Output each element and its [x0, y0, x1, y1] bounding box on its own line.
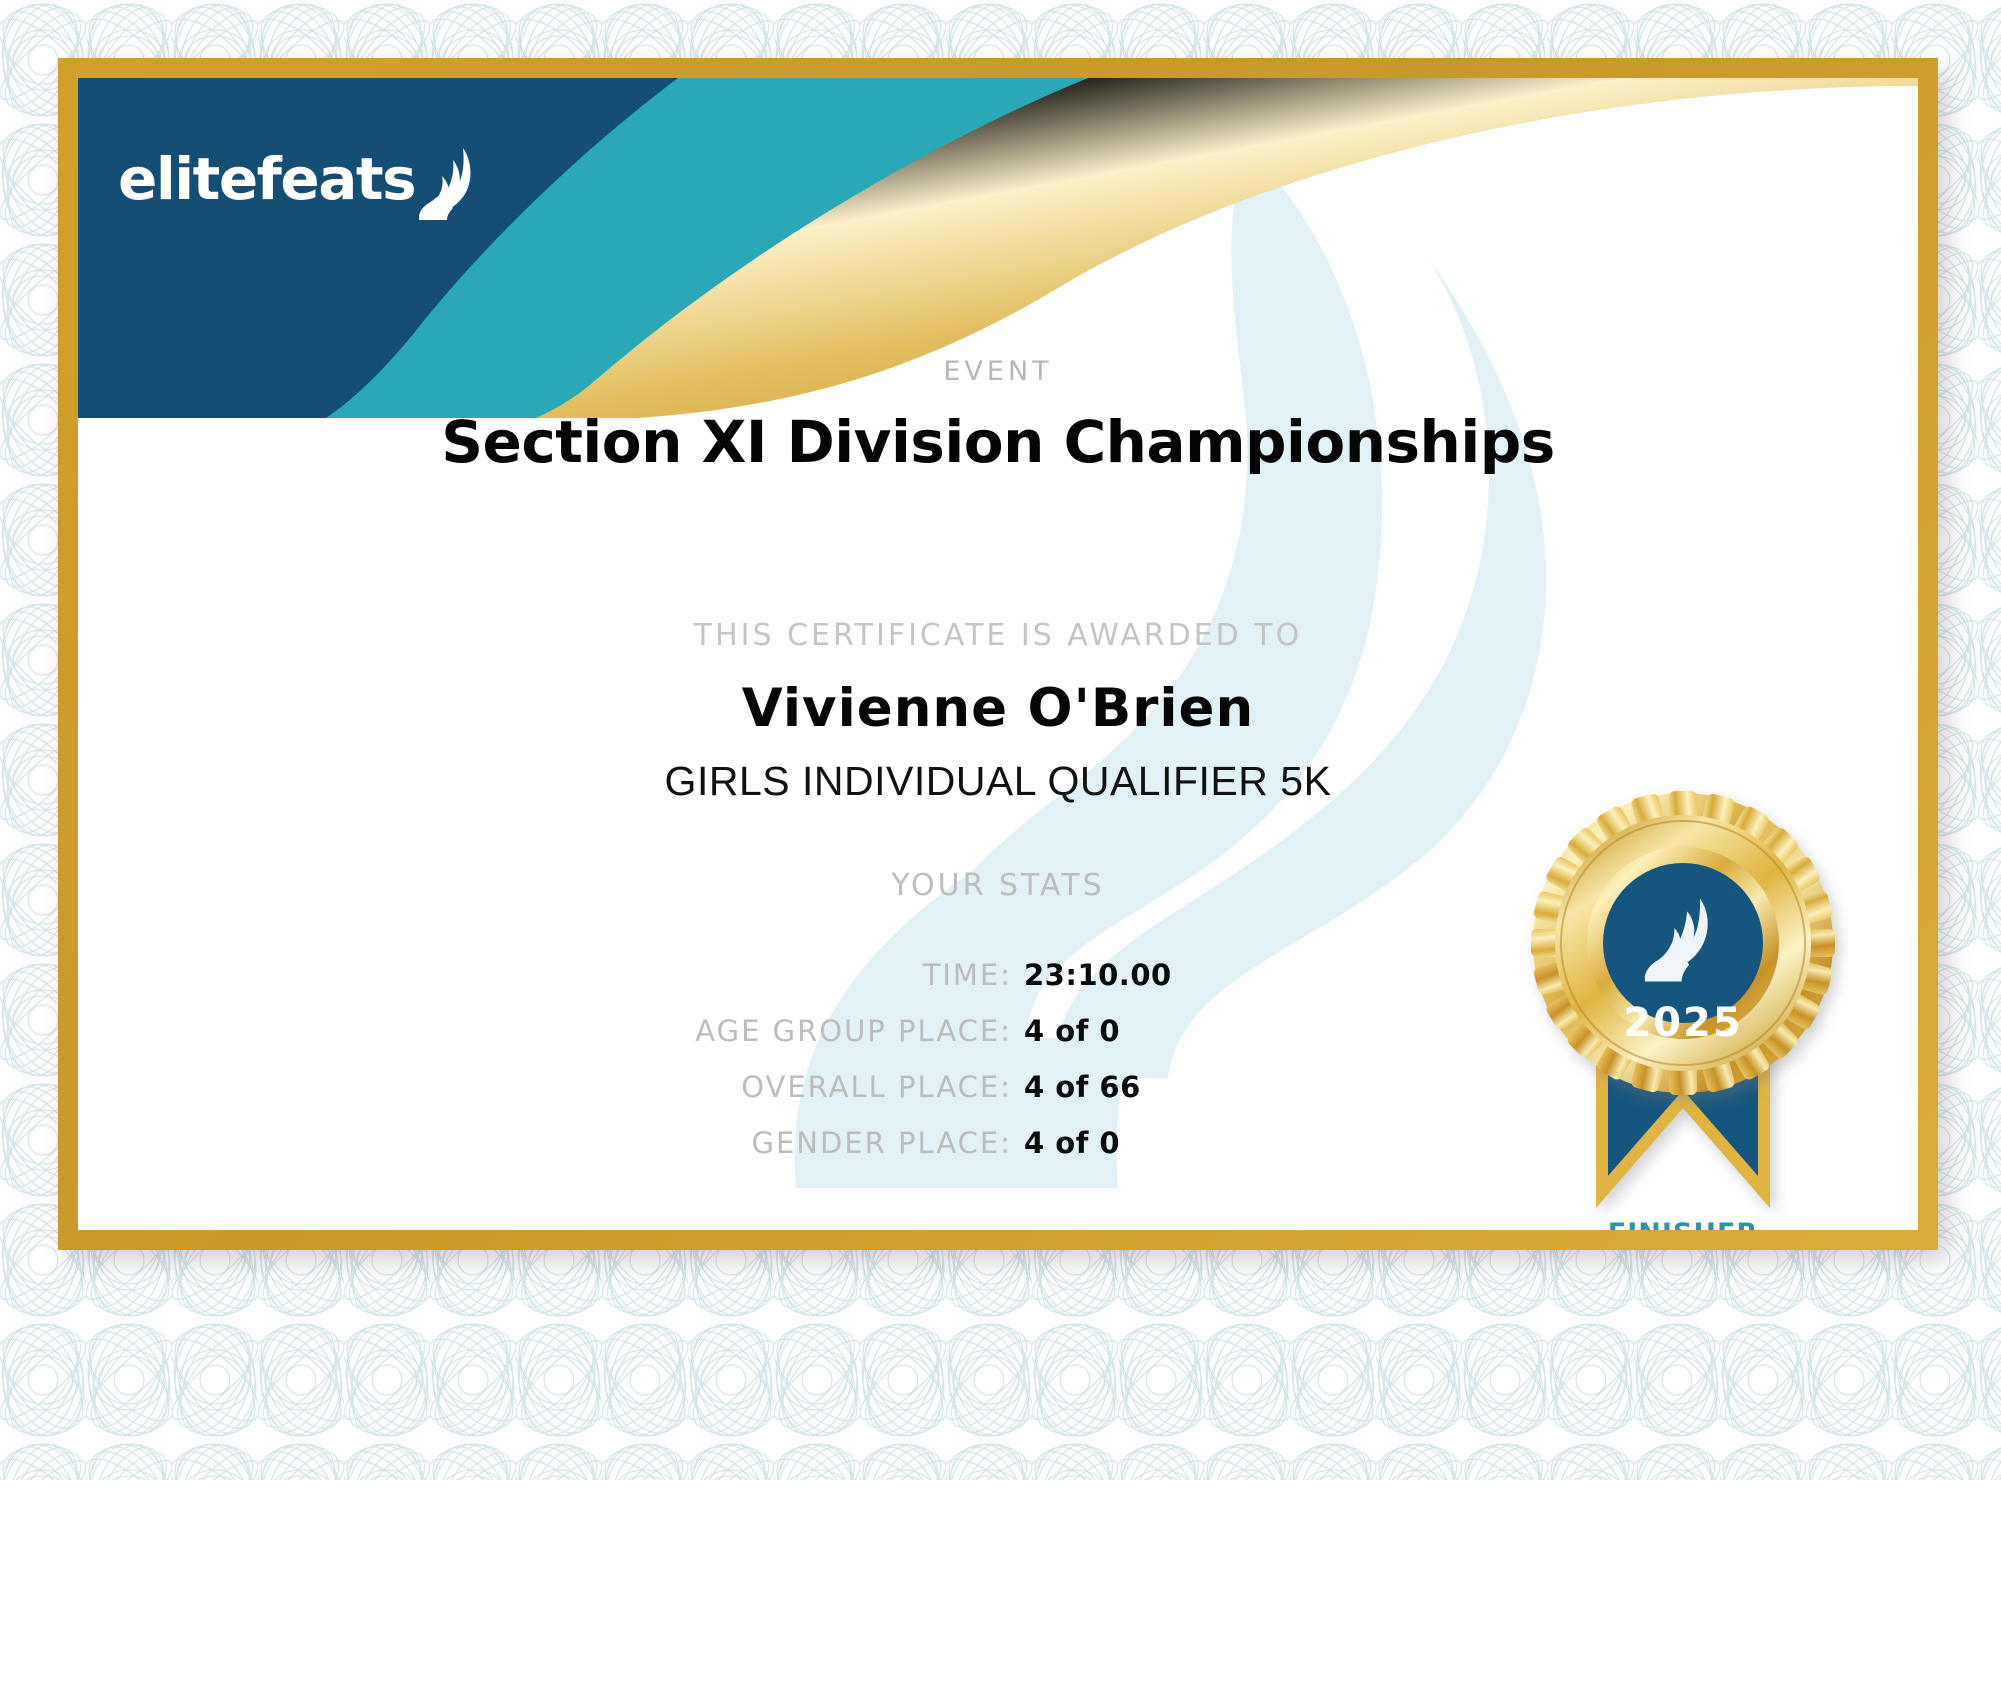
certificate-content: EVENT Section XI Division Championships …: [78, 78, 1918, 1230]
elitefeats-logo: elitefeats: [118, 146, 479, 208]
stat-label-gender-place: GENDER PLACE:: [542, 1126, 1012, 1160]
stat-row: TIME: 23:10.00: [378, 958, 1488, 992]
stat-value-overall-place: 4 of 66: [1024, 1070, 1324, 1104]
recipient-name: Vivienne O'Brien: [78, 678, 1918, 739]
stat-row: OVERALL PLACE: 4 of 66: [378, 1070, 1488, 1104]
stat-row: AGE GROUP PLACE: 4 of 0: [378, 1014, 1488, 1048]
seal-caption-line1: FINISHER: [1518, 1218, 1848, 1230]
seal-year: 2025: [1623, 1000, 1742, 1046]
logo-wordmark: elitefeats: [118, 150, 415, 208]
stat-value-time: 23:10.00: [1024, 958, 1324, 992]
stat-value-gender-place: 4 of 0: [1024, 1126, 1324, 1160]
winged-foot-icon: [417, 146, 479, 222]
certificate-page: elitefeats EVENT Section XI Division Cha…: [0, 0, 2001, 1700]
stat-label-age-group-place: AGE GROUP PLACE:: [542, 1014, 1012, 1048]
certificate-body: elitefeats EVENT Section XI Division Cha…: [78, 78, 1918, 1230]
stat-label-time: TIME:: [542, 958, 1012, 992]
seal-caption: FINISHER CERTIFICATE: [1518, 1218, 1848, 1230]
stat-row: GENDER PLACE: 4 of 0: [378, 1126, 1488, 1160]
event-label: EVENT: [78, 356, 1918, 387]
stat-label-overall-place: OVERALL PLACE:: [542, 1070, 1012, 1104]
stat-value-age-group-place: 4 of 0: [1024, 1014, 1324, 1048]
awarded-to-label: THIS CERTIFICATE IS AWARDED TO: [78, 618, 1918, 653]
stats-list: TIME: 23:10.00 AGE GROUP PLACE: 4 of 0 O…: [378, 958, 1488, 1182]
gold-border-frame: elitefeats EVENT Section XI Division Cha…: [58, 58, 1938, 1250]
finisher-medal-seal: 2025: [1518, 778, 1848, 1230]
event-title: Section XI Division Championships: [78, 408, 1918, 476]
